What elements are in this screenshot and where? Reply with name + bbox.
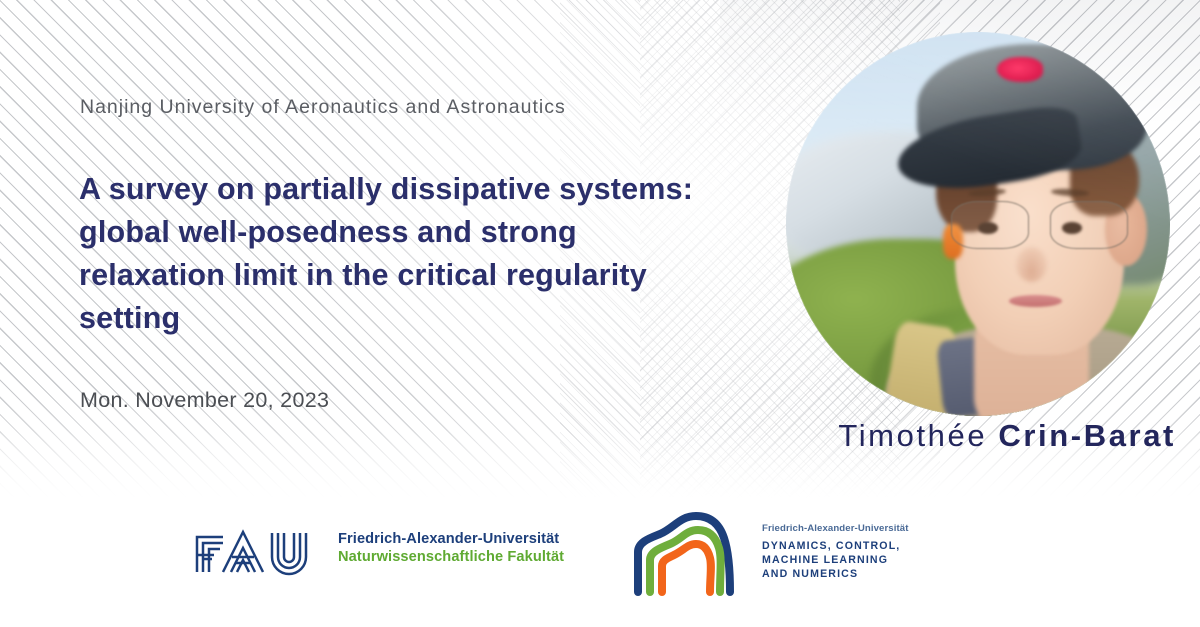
fau-logo: Friedrich-Alexander-Universität Naturwis… (192, 522, 564, 576)
dcn-logo-text: Friedrich-Alexander-Universität DYNAMICS… (762, 523, 909, 582)
fau-wordmark-icon (192, 522, 324, 576)
speaker-last-name: Crin-Barat (998, 418, 1176, 453)
seminar-announcement-poster: Nanjing University of Aeronautics and As… (0, 0, 1200, 627)
dcn-logo: Friedrich-Alexander-Universität DYNAMICS… (628, 508, 909, 596)
dcn-arches-icon (628, 508, 750, 596)
speaker-name: Timothée Crin-Barat (838, 418, 1176, 454)
dcn-line-1: DYNAMICS, CONTROL, (762, 539, 909, 553)
dcn-line-2: MACHINE LEARNING (762, 553, 909, 567)
talk-date: Mon. November 20, 2023 (80, 388, 329, 413)
fau-university-line: Friedrich-Alexander-Universität (338, 531, 564, 549)
page-title: A survey on partially dissipative system… (79, 168, 719, 340)
organization-name: Nanjing University of Aeronautics and As… (80, 96, 566, 119)
dcn-line-3: AND NUMERICS (762, 567, 909, 581)
fau-faculty-line: Naturwissenschaftliche Fakultät (338, 549, 564, 567)
dcn-university-line: Friedrich-Alexander-Universität (762, 523, 909, 536)
fau-logo-text: Friedrich-Alexander-Universität Naturwis… (338, 531, 564, 567)
speaker-first-name: Timothée (838, 418, 987, 453)
photo-soft-overlay (786, 32, 1170, 416)
speaker-avatar (786, 32, 1170, 416)
